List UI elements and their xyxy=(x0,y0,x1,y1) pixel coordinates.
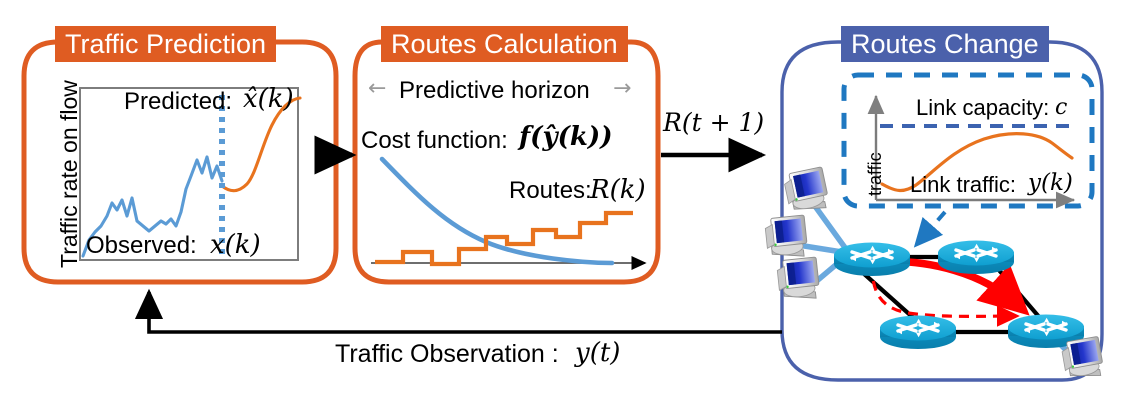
connector-label-r-t-plus-1: R(t + 1) xyxy=(663,108,764,137)
prediction-y-axis-label: Traffic rate on flow xyxy=(56,80,83,268)
host-2 xyxy=(764,215,808,260)
router-top-right xyxy=(938,241,1014,275)
link-capacity-variable: c xyxy=(1055,95,1067,120)
zoom-pointer xyxy=(917,212,945,244)
cost-function-curve xyxy=(382,159,612,263)
panel-routes-change[interactable] xyxy=(764,42,1104,381)
prediction-predicted-label: Predicted: xyxy=(124,88,232,116)
panel-title-traffic-prediction[interactable]: Traffic Prediction xyxy=(55,26,276,62)
prediction-observed-variable: x(k) xyxy=(210,230,261,260)
panel-title-routes-change[interactable]: Routes Change xyxy=(841,26,1049,62)
host-1 xyxy=(783,167,831,215)
feedback-label: Traffic Observation : xyxy=(335,340,559,369)
cost-function-variable: f(ŷ(k)) xyxy=(519,122,613,152)
panel-title-routes-calculation[interactable]: Routes Calculation xyxy=(381,26,628,62)
horizon-arrow-right-icon: → xyxy=(613,76,631,101)
link-chart-y-axis-label: traffic xyxy=(865,152,886,196)
router-bottom-left xyxy=(880,316,956,350)
cost-function-label: Cost function: xyxy=(361,127,508,155)
link-capacity-label: Link capacity: xyxy=(916,95,1049,121)
predictive-horizon-label: Predictive horizon xyxy=(399,77,590,105)
host-4 xyxy=(1061,336,1105,381)
router-top-left xyxy=(834,243,910,277)
routes-variable: R(k) xyxy=(590,175,646,205)
link-traffic-variable: y(k) xyxy=(1028,170,1073,196)
diagram-canvas: Traffic Prediction Routes Calculation Ro… xyxy=(0,0,1128,412)
feedback-variable: y(t) xyxy=(575,338,620,368)
routes-label: Routes: xyxy=(509,177,592,205)
prediction-observed-label: Observed: xyxy=(86,232,197,260)
link-traffic-label: Link traffic: xyxy=(910,172,1016,198)
horizon-arrow-left-icon: ← xyxy=(368,76,386,101)
routes-staircase xyxy=(375,213,633,264)
prediction-predicted-variable: x̂(k) xyxy=(243,84,294,114)
feedback-loop xyxy=(149,292,782,332)
